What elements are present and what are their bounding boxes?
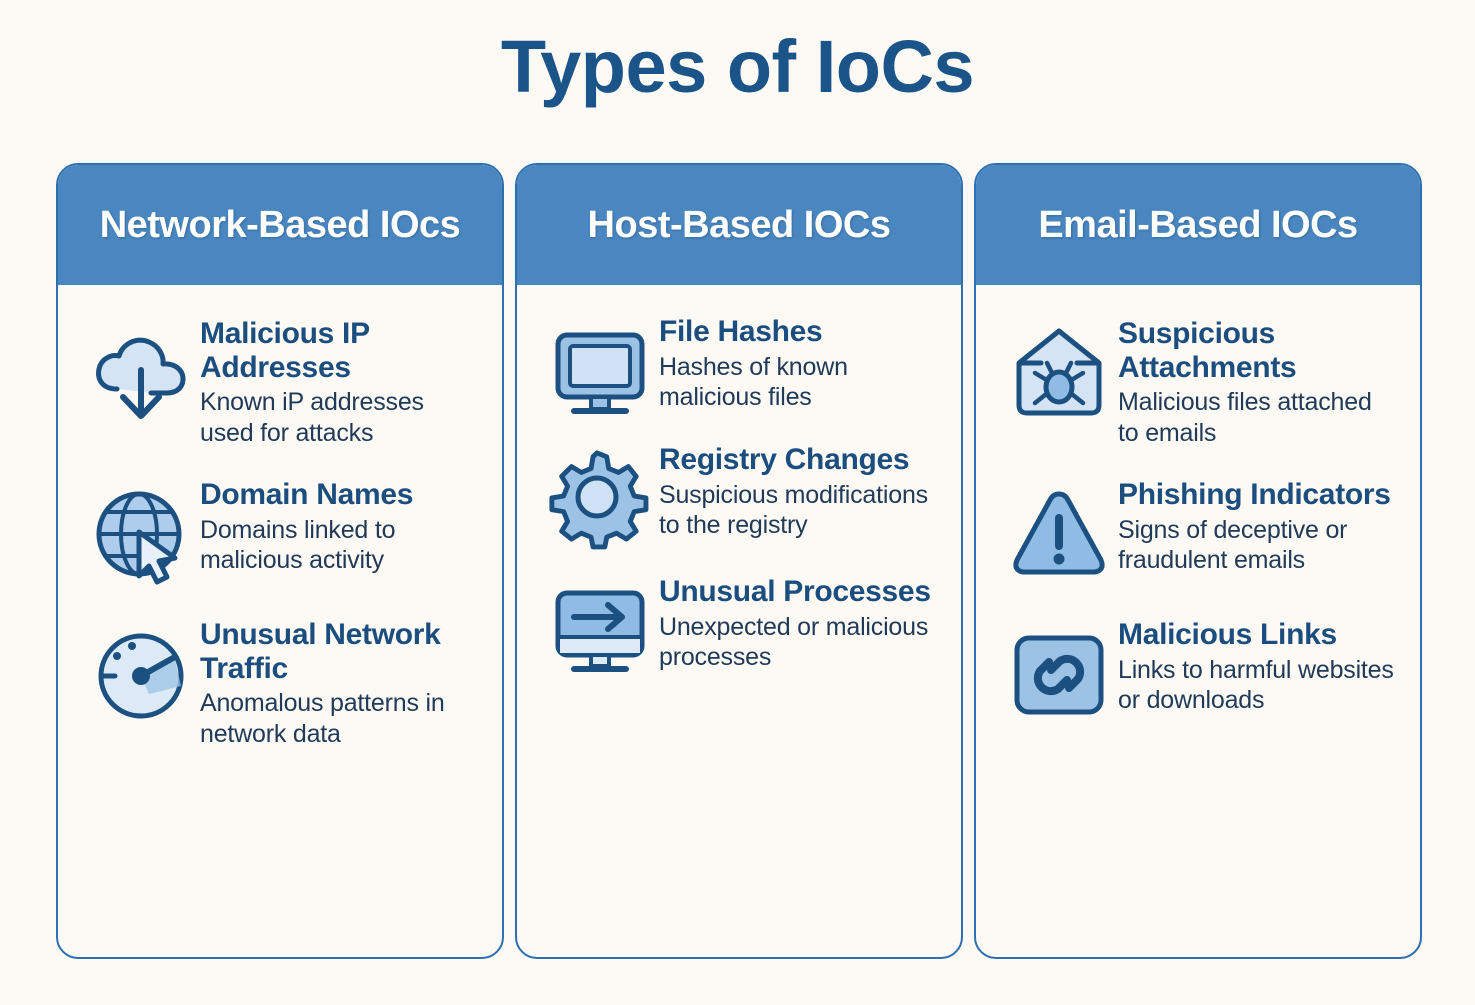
list-item: Malicious Links Links to harmful website… [1000,616,1396,724]
list-item-text: Unusual Network Traffic Anomalous patter… [200,616,478,749]
card-email-based: Email-Based IOCs [974,163,1422,959]
list-item-description: Known iP addresses used for attacks [200,387,478,448]
list-item-title: Unusual Network Traffic [200,618,478,685]
list-item-description: Malicious files attached to emails [1118,387,1396,448]
list-item-description: Suspicious modifications to the registry [659,480,937,541]
list-item-text: Registry Changes Suspicious modification… [659,441,937,541]
card-header-title: Network-Based IOcs [100,204,461,247]
list-item-description: Unexpected or malicious processes [659,612,937,673]
list-item-title: Registry Changes [659,443,937,477]
card-body-network-based: Malicious IP Addresses Known iP addresse… [58,285,502,957]
globe-cursor-icon [82,476,200,588]
card-header-network-based: Network-Based IOcs [58,165,502,285]
card-header-title: Host-Based IOCs [588,204,891,247]
gear-icon [541,441,659,553]
list-item-text: Unusual Processes Unexpected or maliciou… [659,573,937,673]
list-item-text: Domain Names Domains linked to malicious… [200,476,478,576]
envelope-bug-icon [1000,315,1118,427]
card-header-email-based: Email-Based IOCs [976,165,1420,285]
list-item-title: Malicious Links [1118,618,1396,652]
cloud-download-icon [82,315,200,427]
list-item-description: Anomalous patterns in network data [200,688,478,749]
monitor-arrow-icon [541,573,659,681]
card-header-title: Email-Based IOCs [1038,204,1357,247]
list-item-title: Suspicious Attachments [1118,317,1396,384]
list-item-text: Malicious IP Addresses Known iP addresse… [200,315,478,448]
warning-triangle-icon [1000,476,1118,588]
list-item-text: Phishing Indicators Signs of deceptive o… [1118,476,1396,576]
list-item-text: File Hashes Hashes of known malicious fi… [659,313,937,413]
page-title: Types of IoCs [0,26,1475,107]
card-header-host-based: Host-Based IOCs [517,165,961,285]
link-chain-icon [1000,616,1118,724]
list-item: Suspicious Attachments Malicious files a… [1000,315,1396,448]
list-item: Unusual Processes Unexpected or maliciou… [541,573,937,681]
card-network-based: Network-Based IOcs Malicious IP Addresse… [56,163,504,959]
list-item-title: Phishing Indicators [1118,478,1396,512]
list-item-title: File Hashes [659,315,937,349]
list-item-title: Malicious IP Addresses [200,317,478,384]
list-item: Domain Names Domains linked to malicious… [82,476,478,588]
list-item-description: Domains linked to malicious activity [200,515,478,576]
list-item-text: Malicious Links Links to harmful website… [1118,616,1396,716]
list-item: Phishing Indicators Signs of deceptive o… [1000,476,1396,588]
gauge-icon [82,616,200,728]
card-host-based: Host-Based IOCs File Hashes Hashes of kn… [515,163,963,959]
monitor-icon [541,313,659,421]
list-item: Malicious IP Addresses Known iP addresse… [82,315,478,448]
list-item-title: Unusual Processes [659,575,937,609]
list-item-description: Signs of deceptive or fraudulent emails [1118,515,1396,576]
list-item-description: Links to harmful websites or downloads [1118,655,1396,716]
ioc-columns: Network-Based IOcs Malicious IP Addresse… [56,163,1422,959]
list-item-text: Suspicious Attachments Malicious files a… [1118,315,1396,448]
list-item-title: Domain Names [200,478,478,512]
card-body-host-based: File Hashes Hashes of known malicious fi… [517,285,961,957]
list-item: Unusual Network Traffic Anomalous patter… [82,616,478,749]
list-item-description: Hashes of known malicious files [659,352,937,413]
list-item: Registry Changes Suspicious modification… [541,441,937,553]
card-body-email-based: Suspicious Attachments Malicious files a… [976,285,1420,957]
list-item: File Hashes Hashes of known malicious fi… [541,313,937,421]
